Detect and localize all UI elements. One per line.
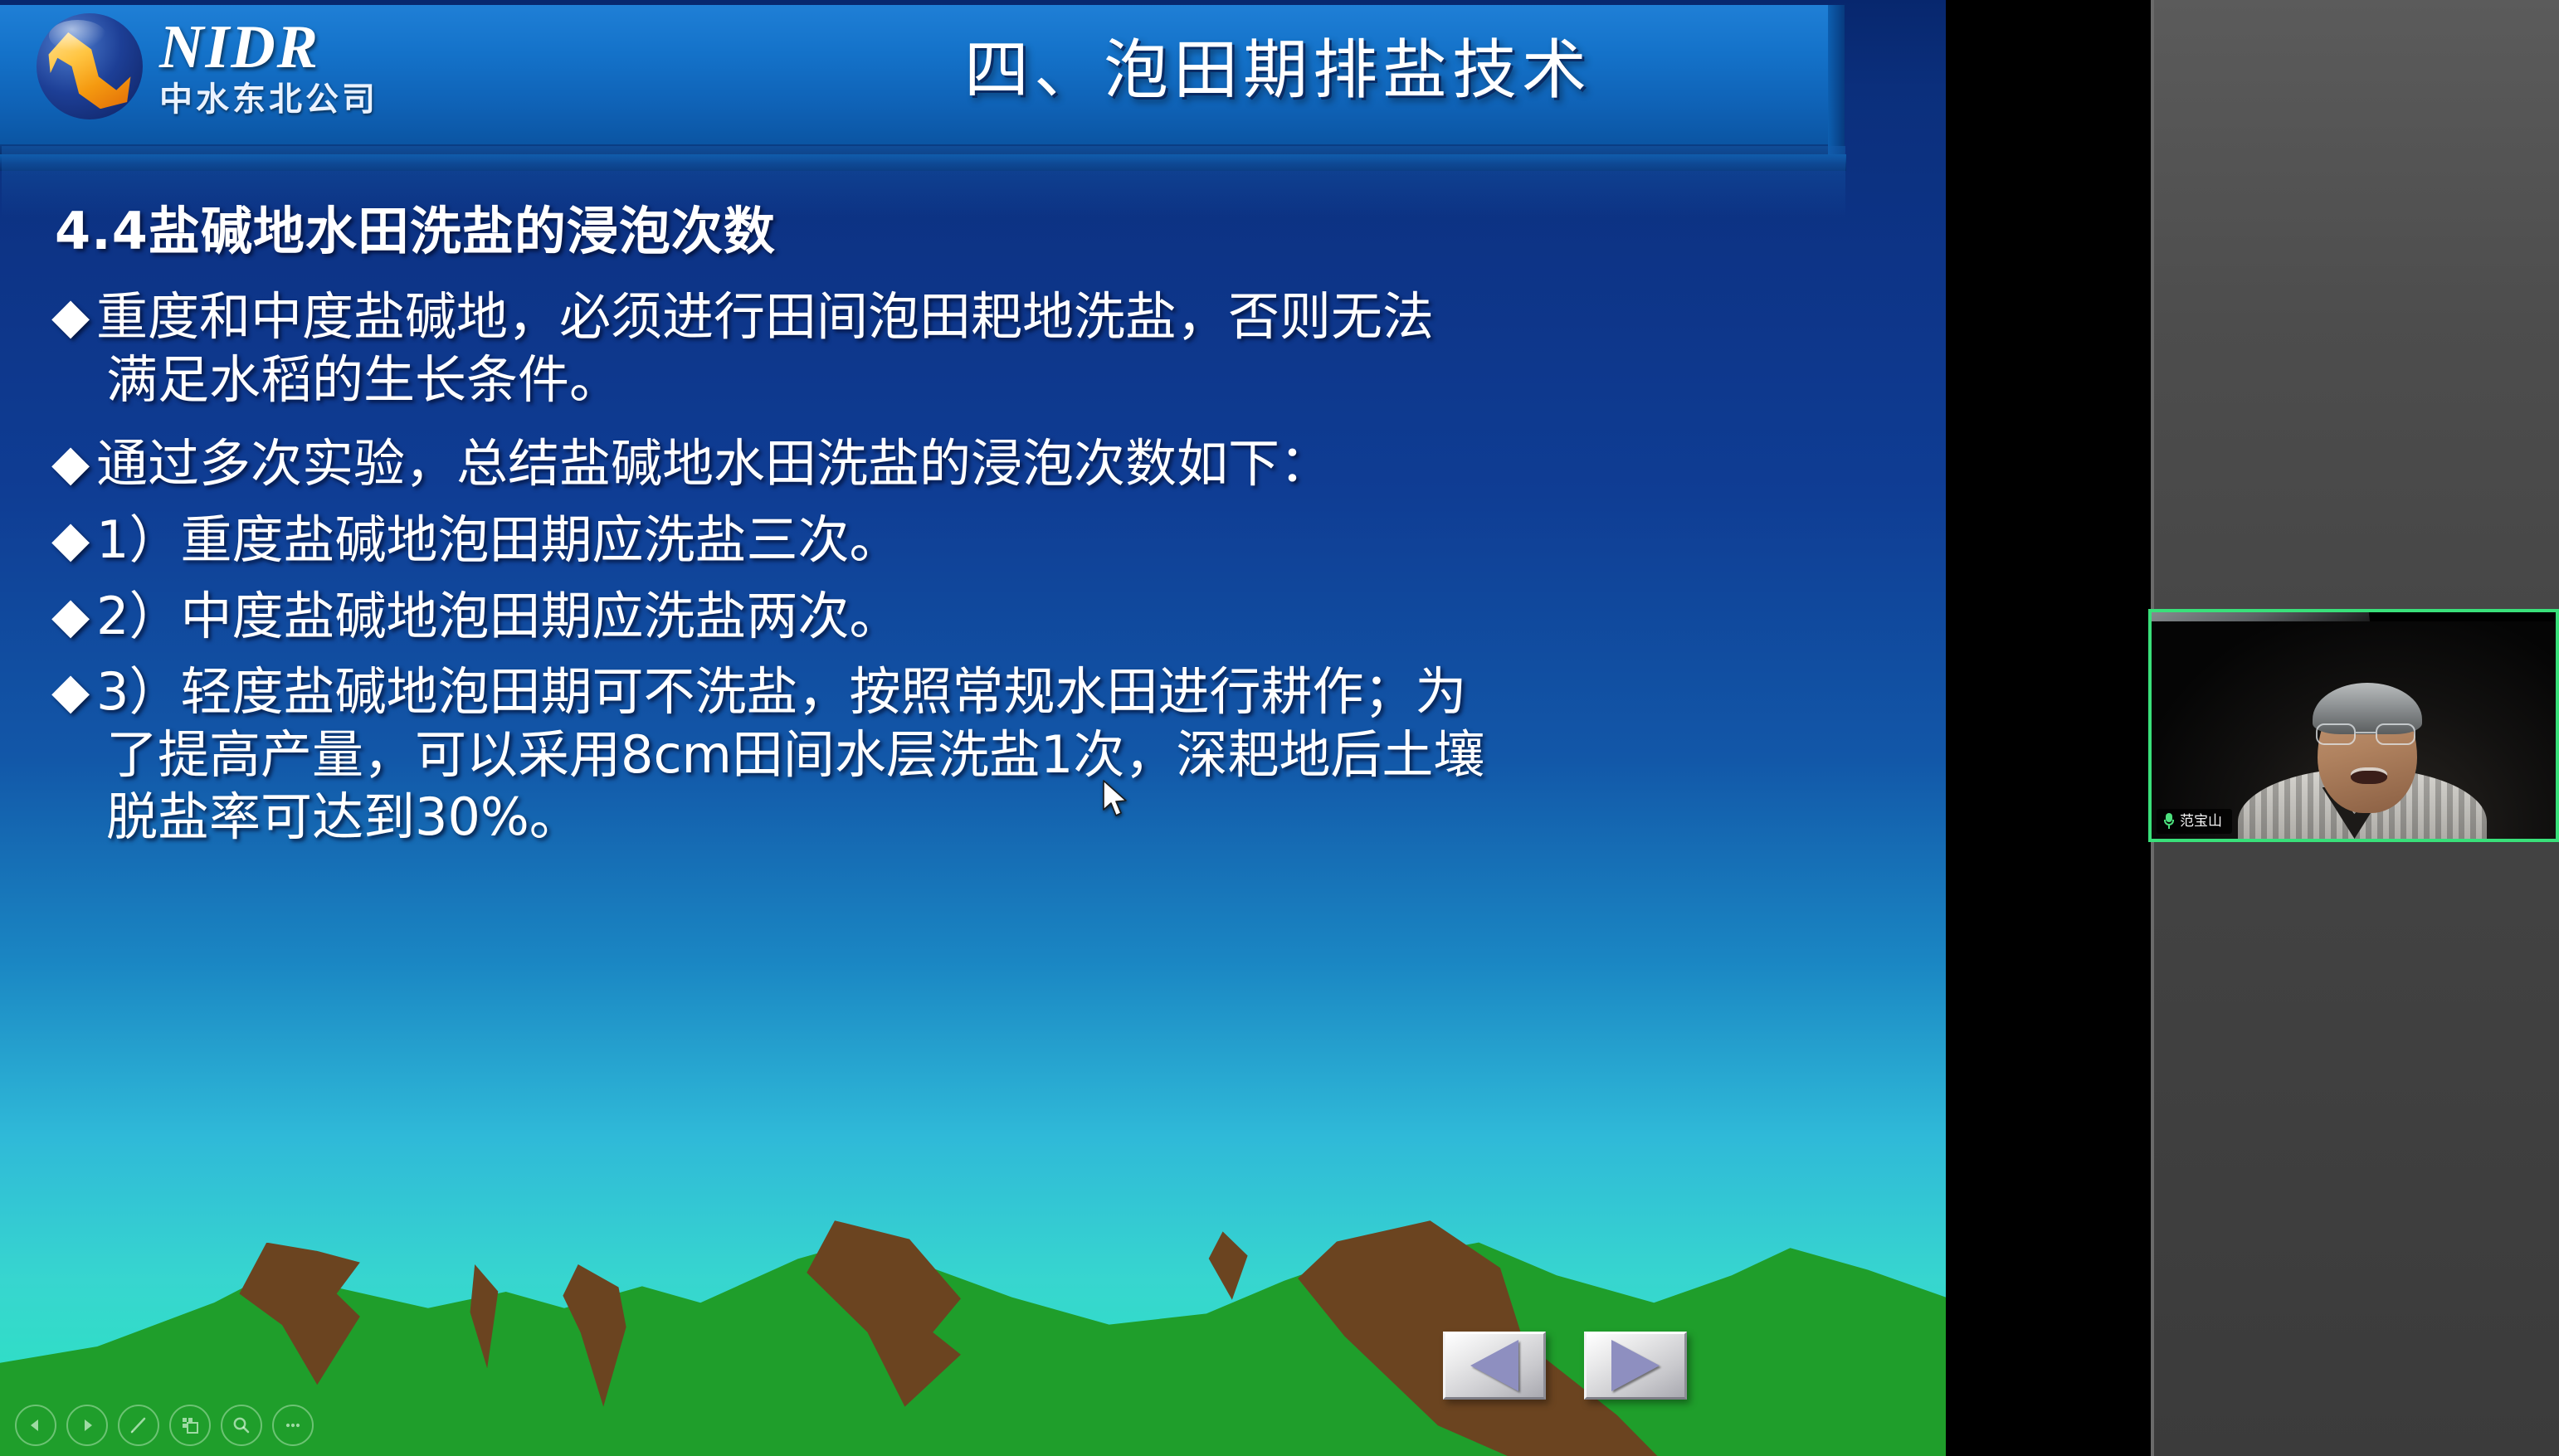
bullet-line: 重度和中度盐碱地，必须进行田间泡田耙地洗盐，否则无法 — [96, 286, 1434, 347]
diamond-bullet-icon: ◆ — [51, 285, 96, 346]
glasses-bridge — [2356, 732, 2376, 733]
bullet-item: ◆ 通过多次实验，总结盐碱地水田洗盐的浸泡次数如下： — [51, 432, 1902, 495]
nidr-globe-logo-icon — [37, 13, 143, 119]
rock-shape — [1187, 1231, 1265, 1303]
glasses-lens-right — [2376, 723, 2415, 745]
slide-body: 4.4盐碱地水田洗盐的浸泡次数 ◆ 重度和中度盐碱地，必须进行田间泡田耙地洗盐，… — [0, 171, 1946, 849]
bullet-item: ◆ 2）中度盐碱地泡田期应洗盐两次。 — [51, 585, 1902, 648]
participant-glasses — [2316, 723, 2415, 745]
logo-english-label: NIDR — [159, 17, 378, 78]
slide-next-button[interactable] — [1584, 1332, 1687, 1400]
bullet-line: 通过多次实验，总结盐碱地水田洗盐的浸泡次数如下： — [96, 433, 1331, 494]
company-logo: NIDR 中水东北公司 — [37, 13, 378, 119]
glasses-lens-left — [2316, 723, 2356, 745]
triangle-right-icon — [78, 1416, 96, 1434]
bullet-line: 满足水稻的生长条件。 — [106, 348, 621, 411]
diamond-bullet-icon: ◆ — [51, 509, 96, 569]
mouse-cursor — [1102, 780, 1130, 818]
grid-slides-icon — [179, 1415, 201, 1436]
slide-nav-buttons — [1443, 1332, 1687, 1400]
presenter-toolbar — [15, 1405, 314, 1446]
triangle-left-icon — [1470, 1340, 1518, 1391]
screen-share-meeting-view: 范宝山 NIDR 中水东北公司 四、泡田期排盐技术 4.4盐碱地水田洗盐的浸泡次… — [0, 0, 2559, 1456]
slide-previous-button[interactable] — [1443, 1332, 1546, 1400]
participant-name-badge: 范宝山 — [2157, 809, 2232, 834]
presenter-all-slides-button[interactable] — [169, 1405, 211, 1446]
bullet-line: 了提高产量，可以采用8cm田间水层洗盐1次，深耙地后土壤 — [106, 723, 1484, 786]
slide-header-right-edge — [1828, 5, 1845, 156]
presenter-previous-button[interactable] — [15, 1405, 56, 1446]
bullet-item: ◆ 1）重度盐碱地泡田期应洗盐三次。 — [51, 509, 1902, 572]
participant-video-tile[interactable]: 范宝山 — [2148, 609, 2559, 842]
participant-name-label: 范宝山 — [2180, 815, 2222, 829]
triangle-left-icon — [27, 1416, 45, 1434]
bullet-item: ◆ 3）轻度盐碱地泡田期可不洗盐，按照常规水田进行耕作；为 了提高产量，可以采用… — [51, 660, 1902, 849]
diamond-bullet-icon: ◆ — [51, 432, 96, 493]
bullet-text: 通过多次实验，总结盐碱地水田洗盐的浸泡次数如下： — [96, 432, 1331, 495]
bullet-line: 脱盐率可达到30%。 — [106, 786, 581, 849]
bullet-text: 重度和中度盐碱地，必须进行田间泡田耙地洗盐，否则无法 满足水稻的生长条件。 — [96, 285, 1434, 411]
presenter-next-button[interactable] — [66, 1405, 108, 1446]
pen-icon — [128, 1415, 149, 1436]
bullet-text: 3）轻度盐碱地泡田期可不洗盐，按照常规水田进行耕作；为 了提高产量，可以采用8c… — [96, 660, 1484, 849]
slide-subheading: 4.4盐碱地水田洗盐的浸泡次数 — [55, 189, 1946, 264]
shared-slide[interactable]: NIDR 中水东北公司 四、泡田期排盐技术 4.4盐碱地水田洗盐的浸泡次数 ◆ … — [0, 0, 1946, 1456]
bullet-line: 3）轻度盐碱地泡田期可不洗盐，按照常规水田进行耕作；为 — [96, 661, 1466, 722]
triangle-right-icon — [1611, 1340, 1660, 1391]
slide-title: 四、泡田期排盐技术 — [846, 18, 1709, 111]
bullet-text: 2）中度盐碱地泡田期应洗盐两次。 — [96, 585, 900, 648]
presenter-pen-button[interactable] — [118, 1405, 159, 1446]
bullet-line: 2）中度盐碱地泡田期应洗盐两次。 — [96, 586, 900, 646]
ellipsis-icon — [282, 1415, 304, 1436]
presenter-zoom-button[interactable] — [221, 1405, 262, 1446]
presenter-more-options-button[interactable] — [272, 1405, 314, 1446]
diamond-bullet-icon: ◆ — [51, 660, 96, 721]
bullet-text: 1）重度盐碱地泡田期应洗盐三次。 — [96, 509, 900, 572]
microphone-icon — [2163, 813, 2175, 830]
bullet-item: ◆ 重度和中度盐碱地，必须进行田间泡田耙地洗盐，否则无法 满足水稻的生长条件。 — [51, 285, 1902, 411]
magnifier-icon — [231, 1415, 252, 1436]
participant-mouth — [2351, 767, 2387, 784]
bullet-line: 1）重度盐碱地泡田期应洗盐三次。 — [96, 509, 900, 570]
diamond-bullet-icon: ◆ — [51, 585, 96, 645]
logo-chinese-label: 中水东北公司 — [159, 83, 378, 116]
